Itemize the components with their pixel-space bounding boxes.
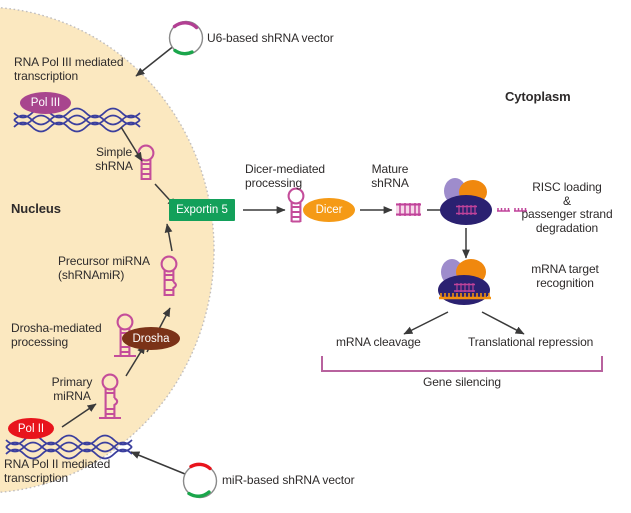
label-precursor-mirna: Precursor miRNA (shRNAmiR) — [58, 255, 150, 282]
label-mir-vector: miR-based shRNA vector — [222, 474, 355, 488]
exportin5-label: Exportin 5 — [176, 204, 228, 216]
label-translational-repression: Translational repression — [468, 336, 593, 350]
label-mrna-cleavage: mRNA cleavage — [336, 336, 421, 350]
mature-shrna-duplex — [396, 203, 421, 216]
label-u6-vector: U6-based shRNA vector — [207, 32, 334, 46]
label-simple-shrna: Simple shRNA — [86, 146, 142, 173]
drosha-enzyme-chip[interactable]: Drosha — [122, 327, 180, 350]
drosha-enzyme-label: Drosha — [132, 333, 169, 345]
label-gene-silencing: Gene silencing — [412, 376, 512, 390]
pol2-enzyme-chip[interactable]: Pol II — [8, 418, 54, 439]
outcome-arrows — [404, 312, 524, 334]
pol2-enzyme-label: Pol II — [18, 423, 44, 435]
dicer-enzyme-label: Dicer — [316, 204, 343, 216]
label-mature-shrna: Mature shRNA — [359, 163, 421, 190]
label-nucleus: Nucleus — [11, 202, 61, 216]
pol3-enzyme-chip[interactable]: Pol III — [20, 92, 71, 114]
label-dicer-processing: Dicer-mediated processing — [245, 163, 325, 190]
label-pol3-transcription: RNA Pol III mediated transcription — [14, 56, 123, 83]
dicer-substrate-hairpin — [289, 189, 304, 222]
arrow-to-mrna-cleavage — [404, 312, 448, 334]
label-risc-loading: RISC loading & passenger strand degradat… — [505, 181, 629, 235]
label-drosha-processing: Drosha-mediated processing — [11, 322, 102, 349]
exportin5-chip[interactable]: Exportin 5 — [169, 199, 235, 221]
pathway-diagram: RNA Pol III mediated transcription Pol I… — [0, 0, 631, 513]
arrow-to-translational-repression — [482, 312, 524, 334]
label-pol2-transcription: RNA Pol II mediated transcription — [4, 458, 110, 485]
label-cytoplasm: Cytoplasm — [505, 90, 571, 104]
label-mrna-target-recognition: mRNA target recognition — [513, 263, 617, 290]
dicer-enzyme-chip[interactable]: Dicer — [303, 198, 355, 222]
gene-silencing-bracket — [322, 356, 602, 371]
mrna-target-complex — [438, 259, 491, 305]
pol3-enzyme-label: Pol III — [31, 97, 60, 109]
risc-loading-complex — [440, 178, 492, 225]
label-primary-mirna: Primary miRNA — [44, 376, 100, 403]
